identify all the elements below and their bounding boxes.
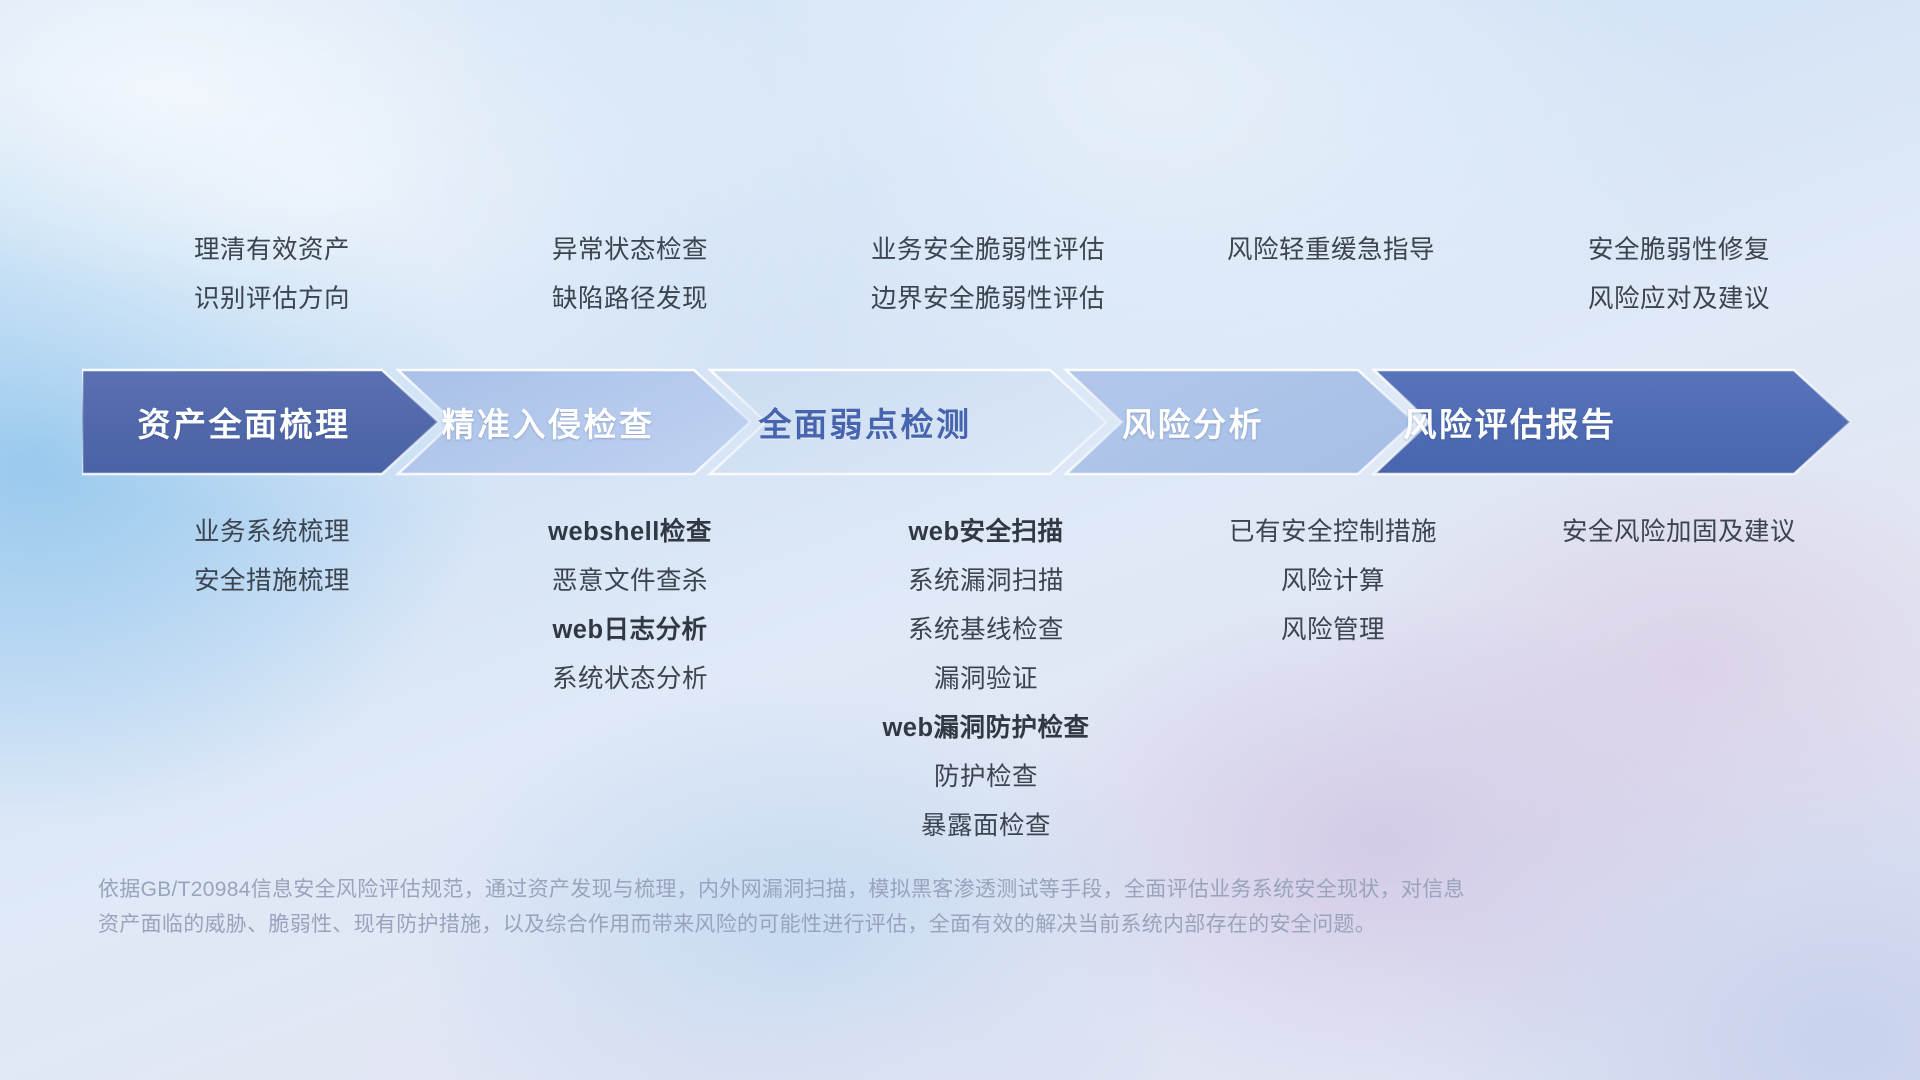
output-item: 业务安全脆弱性评估 [804,226,1172,275]
activity-item: web安全扫描 [802,508,1170,557]
activity-item: 防护检查 [802,753,1170,802]
output-item: 缺陷路径发现 [456,275,804,324]
stage-outputs-asset-inventory: 理清有效资产 识别评估方向 [88,226,456,324]
output-item: 安全脆弱性修复 [1502,226,1856,275]
stage-outputs-weakness-detection: 业务安全脆弱性评估 边界安全脆弱性评估 [804,226,1172,324]
activity-item: 业务系统梳理 [88,508,456,557]
activity-item: 系统状态分析 [456,655,804,704]
stage-outputs-risk-analysis: 风险轻重缓急指导 [1170,226,1492,324]
stage-activities-asset-inventory: 业务系统梳理 安全措施梳理 [88,508,456,851]
stage-outputs-intrusion-inspection: 异常状态检查 缺陷路径发现 [456,226,804,324]
stage-title-intrusion-inspection[interactable]: 精准入侵检查 [400,368,696,476]
activity-item: 安全风险加固及建议 [1502,508,1856,557]
output-item: 边界安全脆弱性评估 [804,275,1172,324]
output-item: 异常状态检查 [456,226,804,275]
slide-content: 理清有效资产 识别评估方向 异常状态检查 缺陷路径发现 业务安全脆弱性评估 边界… [0,0,1920,1080]
activity-item: 安全措施梳理 [88,557,456,606]
footer-line-1: 依据GB/T20984信息安全风险评估规范，通过资产发现与梳理，内外网漏洞扫描，… [98,872,1628,907]
activity-item: 风险计算 [1172,557,1494,606]
activity-item: 漏洞验证 [802,655,1170,704]
activity-item: web漏洞防护检查 [802,704,1170,753]
activity-item: web日志分析 [456,606,804,655]
stage-title-asset-inventory[interactable]: 资产全面梳理 [96,368,392,476]
activity-item: 恶意文件查杀 [456,557,804,606]
output-item: 识别评估方向 [88,275,456,324]
activity-item: webshell检查 [456,508,804,557]
stage-title-weakness-detection[interactable]: 全面弱点检测 [700,368,1030,476]
stage-activities-weakness-detection: web安全扫描 系统漏洞扫描 系统基线检查 漏洞验证 web漏洞防护检查 防护检… [802,508,1170,851]
stage-activities-intrusion-inspection: webshell检查 恶意文件查杀 web日志分析 系统状态分析 [456,508,804,851]
stage-activities-row: 业务系统梳理 安全措施梳理 webshell检查 恶意文件查杀 web日志分析 … [90,508,1850,851]
stage-activities-risk-analysis: 已有安全控制措施 风险计算 风险管理 [1172,508,1494,851]
slide-canvas: 理清有效资产 识别评估方向 异常状态检查 缺陷路径发现 业务安全脆弱性评估 边界… [0,0,1920,1080]
stage-title-risk-assessment-report[interactable]: 风险评估报告 [1345,368,1675,476]
output-item: 风险轻重缓急指导 [1170,226,1492,275]
stage-outputs-risk-assessment-report: 安全脆弱性修复 风险应对及建议 [1502,226,1856,324]
activity-item: 已有安全控制措施 [1172,508,1494,557]
activity-item: 暴露面检查 [802,802,1170,851]
stage-outputs-row: 理清有效资产 识别评估方向 异常状态检查 缺陷路径发现 业务安全脆弱性评估 边界… [90,226,1850,324]
footer-line-2: 资产面临的威胁、脆弱性、现有防护措施，以及综合作用而带来风险的可能性进行评估，全… [98,907,1628,942]
output-item: 理清有效资产 [88,226,456,275]
footer-description: 依据GB/T20984信息安全风险评估规范，通过资产发现与梳理，内外网漏洞扫描，… [98,872,1628,942]
activity-item: 风险管理 [1172,606,1494,655]
activity-item: 系统基线检查 [802,606,1170,655]
stage-activities-risk-assessment-report: 安全风险加固及建议 [1502,508,1856,851]
activity-item: 系统漏洞扫描 [802,557,1170,606]
output-item: 风险应对及建议 [1502,275,1856,324]
stage-title-risk-analysis[interactable]: 风险分析 [1048,368,1338,476]
